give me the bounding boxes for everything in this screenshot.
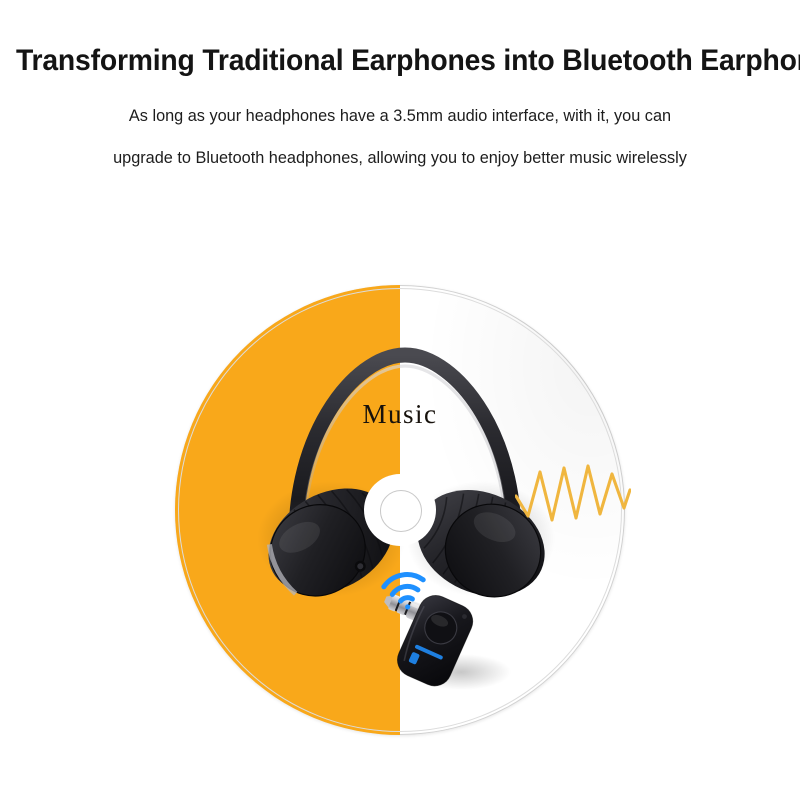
disc-music-label: Music (175, 399, 625, 430)
zigzag-soundwave-icon (515, 450, 631, 530)
wifi-signal-icon (381, 567, 433, 611)
subtitle-line-2: upgrade to Bluetooth headphones, allowin… (0, 124, 800, 166)
disc-hub-hole (380, 490, 422, 532)
product-artwork: Music (175, 285, 625, 735)
page-title: Transforming Traditional Earphones into … (16, 0, 784, 77)
header-text-block: Transforming Traditional Earphones into … (0, 0, 800, 167)
subtitle-line-1: As long as your headphones have a 3.5mm … (0, 77, 800, 124)
